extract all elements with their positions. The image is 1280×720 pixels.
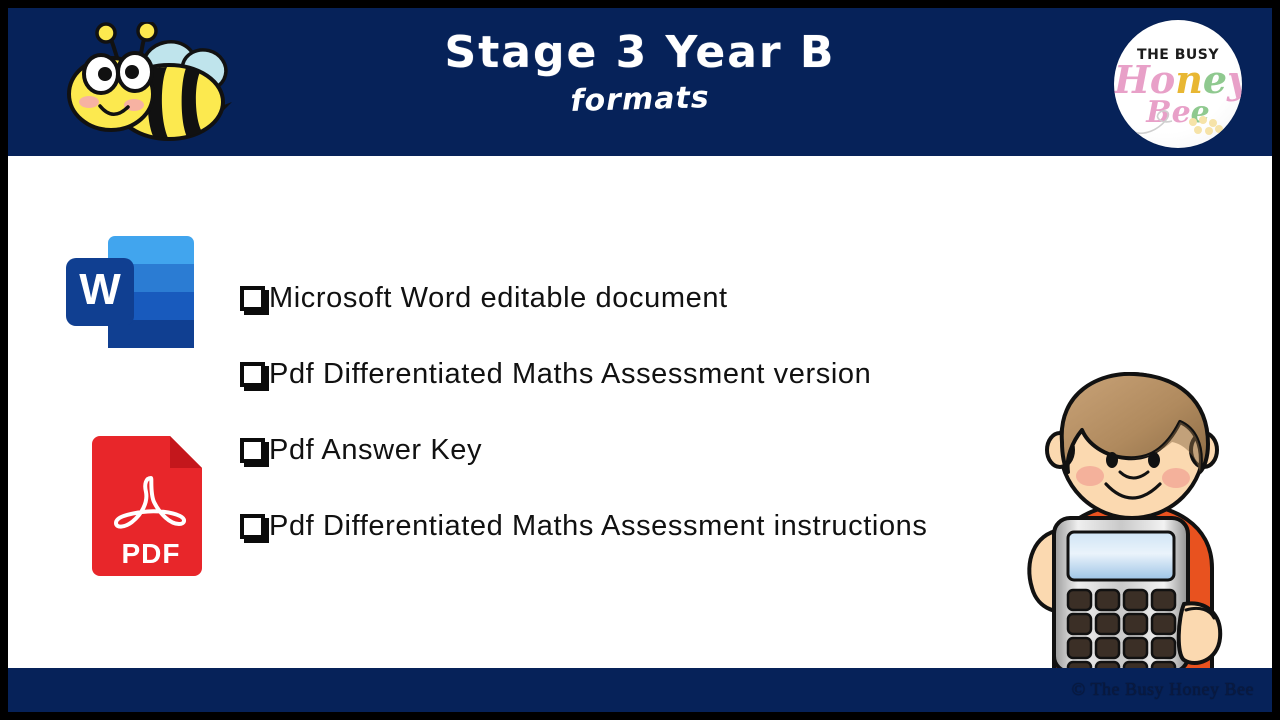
list-item[interactable]: Pdf Answer Key [240,412,1040,488]
brand-logo-badge: THE BUSY Honey Bee [1114,20,1242,148]
svg-text:PDF: PDF [122,538,181,569]
boy-with-calculator-illustration [1008,372,1258,672]
svg-text:W: W [79,265,121,314]
slide-canvas: Stage 3 Year B formats THE BUSY Honey Be… [8,8,1272,712]
title-block: Stage 3 Year B formats [8,8,1272,117]
checkbox-icon[interactable] [240,514,265,539]
microsoft-word-icon: W [64,232,196,352]
list-item[interactable]: Pdf Differentiated Maths Assessment vers… [240,336,1040,412]
logo-letter: n [1175,61,1203,99]
list-item-label: Pdf Differentiated Maths Assessment inst… [269,510,928,543]
logo-word-honey: Honey [1114,61,1242,99]
footer-bar: © The Busy Honey Bee [8,668,1272,712]
list-item-label: Microsoft Word editable document [269,282,728,315]
checkbox-icon[interactable] [240,438,265,463]
checkbox-icon[interactable] [240,362,265,387]
list-item[interactable]: Pdf Differentiated Maths Assessment inst… [240,488,1040,564]
logo-letter: e [1203,61,1227,99]
header-bar: Stage 3 Year B formats THE BUSY Honey Be… [8,8,1272,156]
list-item[interactable]: Microsoft Word editable document [240,260,1040,336]
pdf-file-icon: PDF [90,430,212,582]
list-item-label: Pdf Answer Key [269,434,482,467]
logo-letter: o [1150,61,1175,99]
content-area: W PDF Microsoft Word editable document P… [8,156,1272,668]
slide-frame: Stage 3 Year B formats THE BUSY Honey Be… [0,0,1280,720]
checkbox-icon[interactable] [240,286,265,311]
copyright-text: © The Busy Honey Bee [1072,679,1254,700]
logo-letter: H [1114,61,1150,99]
list-item-label: Pdf Differentiated Maths Assessment vers… [269,358,871,391]
logo-honeycomb-icon [1186,114,1226,140]
logo-letter: y [1227,61,1242,99]
formats-checklist: Microsoft Word editable document Pdf Dif… [240,260,1040,564]
